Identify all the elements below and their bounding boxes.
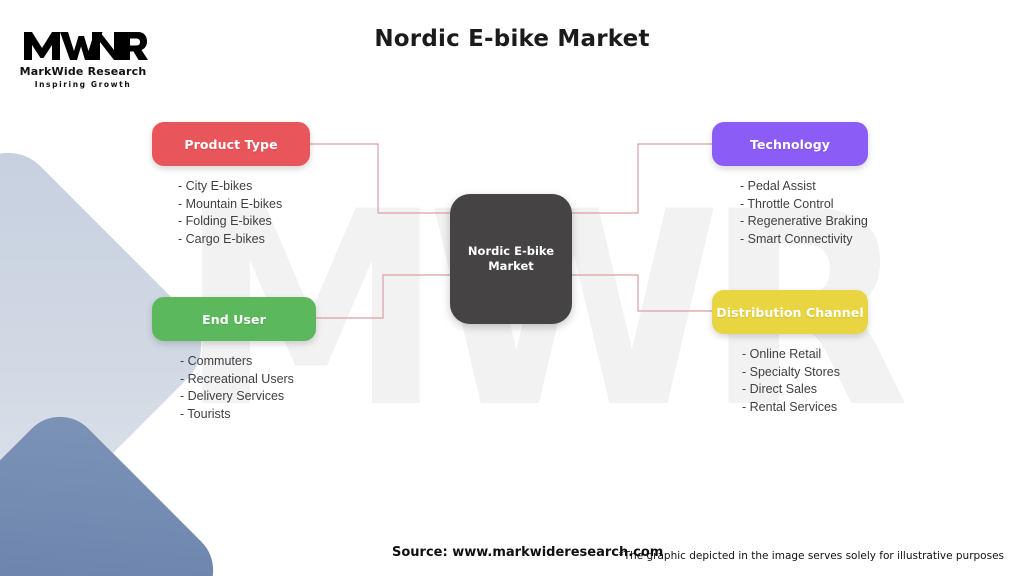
branch-distribution-channel: Distribution Channel - Online Retail - S… — [712, 290, 868, 416]
list-item: - Direct Sales — [742, 381, 868, 399]
list-item: - Regenerative Braking — [740, 213, 868, 231]
branch-items-product-type: - City E-bikes - Mountain E-bikes - Fold… — [178, 178, 310, 248]
branch-label-product-type[interactable]: Product Type — [152, 122, 310, 166]
connector-technology — [572, 144, 712, 213]
center-node[interactable]: Nordic E-bike Market — [450, 194, 572, 324]
branch-label-end-user[interactable]: End User — [152, 297, 316, 341]
diagram-canvas: MWR MarkWide Research Inspiring Growth N… — [0, 0, 1024, 576]
branch-items-distribution-channel: - Online Retail - Specialty Stores - Dir… — [742, 346, 868, 416]
disclaimer-text: *The graphic depicted in the image serve… — [618, 550, 1004, 562]
list-item: - Pedal Assist — [740, 178, 868, 196]
list-item: - Delivery Services — [180, 388, 316, 406]
branch-end-user: End User - Commuters - Recreational User… — [152, 297, 316, 423]
center-node-label: Nordic E-bike Market — [450, 244, 572, 274]
branch-label-technology[interactable]: Technology — [712, 122, 868, 166]
connector-product-type — [310, 144, 450, 213]
branch-items-end-user: - Commuters - Recreational Users - Deliv… — [180, 353, 316, 423]
list-item: - Specialty Stores — [742, 364, 868, 382]
list-item: - Recreational Users — [180, 371, 316, 389]
list-item: - Commuters — [180, 353, 316, 371]
list-item: - Tourists — [180, 406, 316, 424]
list-item: - Online Retail — [742, 346, 868, 364]
list-item: - Rental Services — [742, 399, 868, 417]
connector-distribution-channel — [572, 275, 712, 311]
list-item: - Folding E-bikes — [178, 213, 310, 231]
branch-product-type: Product Type - City E-bikes - Mountain E… — [152, 122, 310, 248]
list-item: - Mountain E-bikes — [178, 196, 310, 214]
branch-technology: Technology - Pedal Assist - Throttle Con… — [712, 122, 868, 248]
connector-end-user — [316, 275, 450, 318]
branch-items-technology: - Pedal Assist - Throttle Control - Rege… — [740, 178, 868, 248]
list-item: - Smart Connectivity — [740, 231, 868, 249]
list-item: - Throttle Control — [740, 196, 868, 214]
list-item: - City E-bikes — [178, 178, 310, 196]
list-item: - Cargo E-bikes — [178, 231, 310, 249]
branch-label-distribution-channel[interactable]: Distribution Channel — [712, 290, 868, 334]
